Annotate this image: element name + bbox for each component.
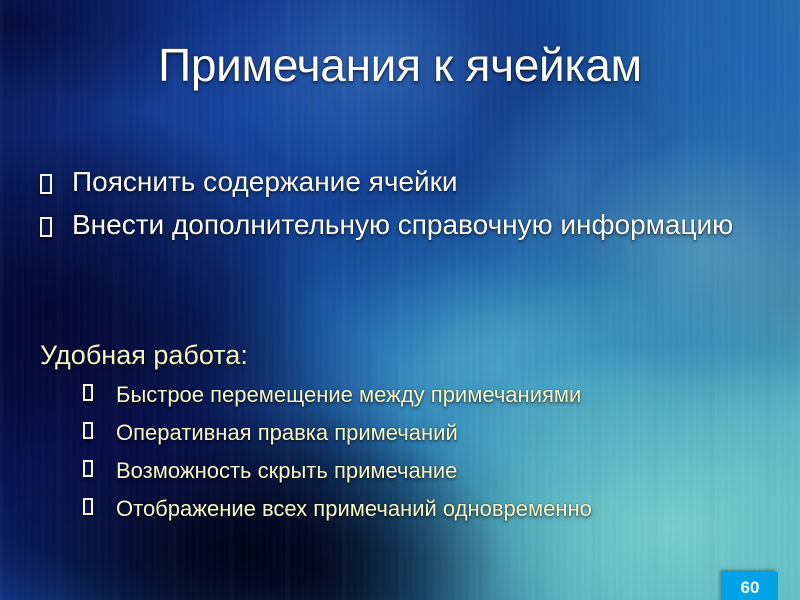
bullet-item-label: Пояснить содержание ячейки [72,163,458,201]
page-number-badge: 60 [722,572,778,600]
slide-title: Примечания к ячейкам [0,38,800,92]
tofu-box-bullet-icon [83,417,116,449]
sub-bullet-item-label: Быстрое перемещение между примечаниями [116,379,581,411]
tofu-box-bullet-icon [83,455,116,487]
bullet-item: Внести дополнительную справочную информа… [40,206,740,244]
main-bullet-list: Пояснить содержание ячейки Внести дополн… [40,163,740,249]
sub-bullet-item: Отображение всех примечаний одновременно [83,493,760,525]
section-heading: Удобная работа: [40,337,760,373]
sub-bullet-item: Оперативная правка примечаний [83,417,760,449]
sub-bullet-item-label: Оперативная правка примечаний [116,417,458,449]
tofu-box-bullet-icon [40,163,72,201]
slide-content: Примечания к ячейкам Пояснить содержание… [0,0,800,600]
section-sub-bullet-list: Быстрое перемещение между примечаниями О… [83,379,760,525]
tofu-box-bullet-icon [83,493,116,525]
bullet-item-label: Внести дополнительную справочную информа… [72,206,733,244]
bullet-item: Пояснить содержание ячейки [40,163,740,201]
tofu-box-bullet-icon [83,379,116,411]
presentation-slide: Примечания к ячейкам Пояснить содержание… [0,0,800,600]
section-block: Удобная работа: Быстрое перемещение межд… [40,337,760,531]
sub-bullet-item: Возможность скрыть примечание [83,455,760,487]
sub-bullet-item: Быстрое перемещение между примечаниями [83,379,760,411]
sub-bullet-item-label: Отображение всех примечаний одновременно [116,493,592,525]
sub-bullet-item-label: Возможность скрыть примечание [116,455,457,487]
tofu-box-bullet-icon [40,206,72,244]
